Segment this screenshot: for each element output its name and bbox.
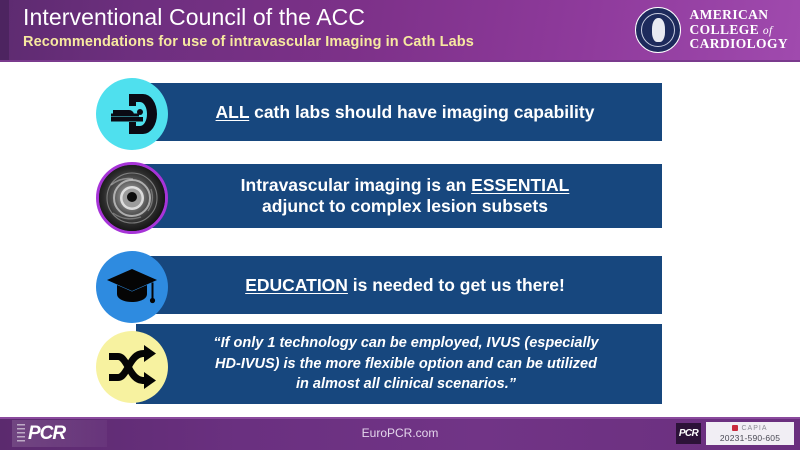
ivus-cross-section-icon [96,162,168,234]
header-left-accent-bar [0,0,9,62]
certification-label: CAPIA [741,425,767,432]
footer-right-group: PCR CAPIA 20231-590-605 [676,422,794,445]
acc-logo-text: AMERICAN COLLEGE of CARDIOLOGY [689,8,788,52]
acc-logo-line-3: CARDIOLOGY [689,37,788,52]
slide-header: Interventional Council of the ACC Recomm… [0,0,800,62]
recommendation-box-1: ALL cath labs should have imaging capabi… [136,83,662,141]
shuffle-arrows-icon [96,331,168,403]
recommendation-text-4: “If only 1 technology can be employed, I… [181,333,616,395]
graduation-cap-icon [96,251,168,323]
acc-logo-line-1: AMERICAN [689,8,788,23]
acc-logo-of: of [763,25,773,37]
page-subtitle: Recommendations for use of intravascular… [23,34,474,50]
recommendation-box-2: Intravascular imaging is an ESSENTIALadj… [136,164,662,228]
certification-code: 20231-590-605 [720,434,780,443]
acc-seal-icon [635,7,681,53]
certification-label-row: CAPIA [732,425,767,432]
acc-logo: AMERICAN COLLEGE of CARDIOLOGY [635,5,788,55]
recommendation-text-1: ALL cath labs should have imaging capabi… [190,102,609,123]
slide-root: Interventional Council of the ACC Recomm… [0,0,800,450]
cath-lab-scanner-icon [96,78,168,150]
acc-logo-line-2: COLLEGE of [689,23,788,38]
page-title: Interventional Council of the ACC [23,4,365,31]
footer-divider [0,417,800,419]
recommendation-list: ALL cath labs should have imaging capabi… [0,62,800,417]
acc-logo-college: COLLEGE [689,22,759,37]
recommendation-text-2: Intravascular imaging is an ESSENTIALadj… [215,175,584,217]
certification-badge: CAPIA 20231-590-605 [706,422,794,445]
acc-seal-figure-icon [652,18,665,42]
recommendation-box-4: “If only 1 technology can be employed, I… [136,324,662,404]
recommendation-text-3: EDUCATION is needed to get us there! [219,275,579,296]
slide-footer: PCR EuroPCR.com PCR CAPIA 20231-590-605 [0,417,800,450]
certification-dot-icon [732,425,738,431]
pcr-logo-small: PCR [676,423,701,444]
recommendation-box-3: EDUCATION is needed to get us there! [136,256,662,314]
